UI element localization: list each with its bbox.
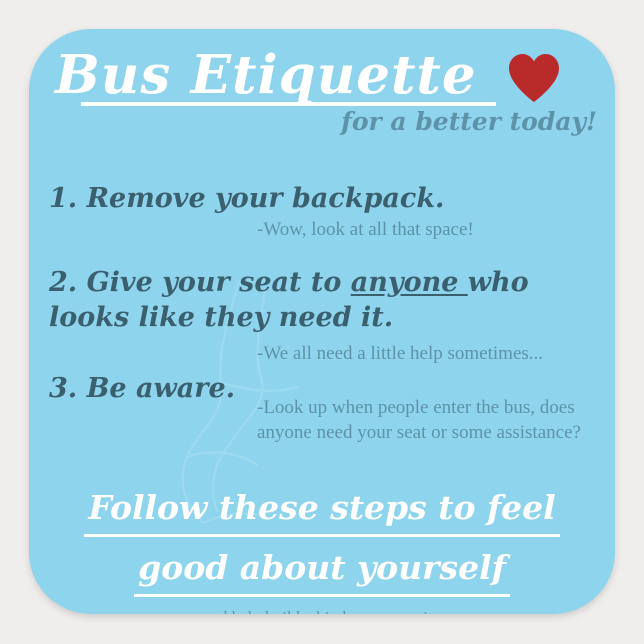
rule-heading-emphasis: anyone <box>351 267 468 298</box>
rule-heading-text: 3. Be aware. <box>49 373 235 404</box>
rule-note: -Look up when people enter the bus, does… <box>257 395 605 445</box>
page-subtitle: for a better today! <box>341 107 597 136</box>
title-underline <box>81 102 496 106</box>
sticker-canvas: Bus Etiquette for a better today! 1. Rem… <box>0 0 644 644</box>
rule-heading: 2. Give your seat to anyone who looks li… <box>49 265 594 335</box>
heart-icon <box>507 53 561 103</box>
rule-item: 1. Remove your backpack. -Wow, look at a… <box>49 181 605 216</box>
rule-heading: 1. Remove your backpack. <box>49 181 605 216</box>
rule-note: -Wow, look at all that space! <box>257 217 474 242</box>
rule-item: 2. Give your seat to anyone who looks li… <box>49 265 605 335</box>
rule-heading-text: 2. Give your seat to <box>49 267 351 298</box>
bus-etiquette-sticker: Bus Etiquette for a better today! 1. Rem… <box>29 29 615 614</box>
rule-heading-text: 1. Remove your backpack. <box>49 183 444 214</box>
closing-tagline: and help build a kinder community <box>29 608 615 614</box>
closing-block: Follow these steps to feel good about yo… <box>29 484 615 614</box>
closing-line-1: Follow these steps to feel <box>84 484 559 537</box>
rule-note: -We all need a little help sometimes... <box>257 341 543 366</box>
closing-line-2: good about yourself <box>134 544 510 597</box>
page-title: Bus Etiquette <box>55 39 477 111</box>
rule-item: 3. Be aware. -Look up when people enter … <box>49 371 605 406</box>
